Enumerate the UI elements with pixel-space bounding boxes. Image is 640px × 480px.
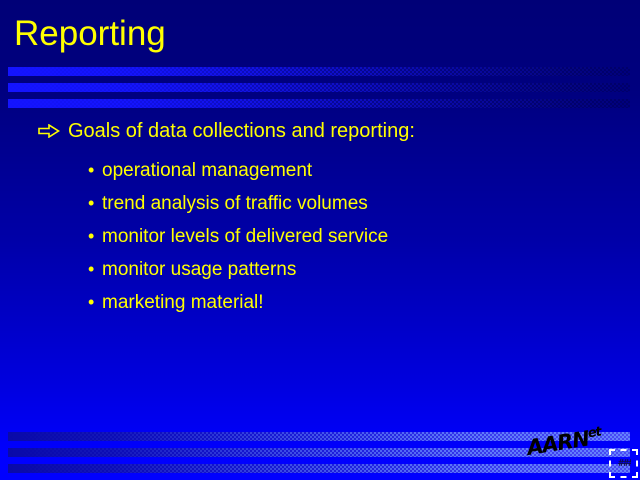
list-item: • marketing material! — [0, 286, 640, 319]
list-item-label: monitor levels of delivered service — [102, 220, 388, 253]
decorative-rule-bar — [8, 99, 630, 108]
aarnet-logo-text: AARNet — [525, 425, 603, 460]
bullet-dot-icon: • — [88, 187, 102, 220]
page-title: Reporting — [14, 12, 166, 56]
page-number-placeholder[interactable]: ### — [609, 449, 638, 478]
aarnet-logo-suffix: et — [587, 425, 602, 442]
list-item: • trend analysis of traffic volumes — [0, 187, 640, 220]
bullet-dot-icon: • — [88, 220, 102, 253]
list-item: • monitor levels of delivered service — [0, 220, 640, 253]
list-item-label: operational management — [102, 154, 312, 187]
decorative-rule-bar — [8, 83, 630, 92]
slide-content: Goals of data collections and reporting:… — [0, 118, 640, 319]
list-item-label: marketing material! — [102, 286, 264, 319]
lead-bullet-label: Goals of data collections and reporting: — [68, 118, 415, 144]
top-decorative-rules — [8, 67, 630, 108]
lead-bullet-row: Goals of data collections and reporting: — [0, 118, 640, 144]
bullet-list: • operational management • trend analysi… — [0, 154, 640, 319]
slide: Reporting Goals of data collections and … — [0, 0, 640, 480]
aarnet-logo: AARNet — [529, 432, 607, 466]
decorative-rule-bar — [8, 67, 630, 76]
hollow-right-arrow-icon — [38, 118, 68, 138]
bullet-dot-icon: • — [88, 253, 102, 286]
page-number-mark: ### — [618, 459, 631, 468]
list-item-label: trend analysis of traffic volumes — [102, 187, 368, 220]
aarnet-logo-main: AARN — [525, 427, 590, 460]
list-item: • monitor usage patterns — [0, 253, 640, 286]
list-item: • operational management — [0, 154, 640, 187]
bullet-dot-icon: • — [88, 286, 102, 319]
list-item-label: monitor usage patterns — [102, 253, 296, 286]
bullet-dot-icon: • — [88, 154, 102, 187]
